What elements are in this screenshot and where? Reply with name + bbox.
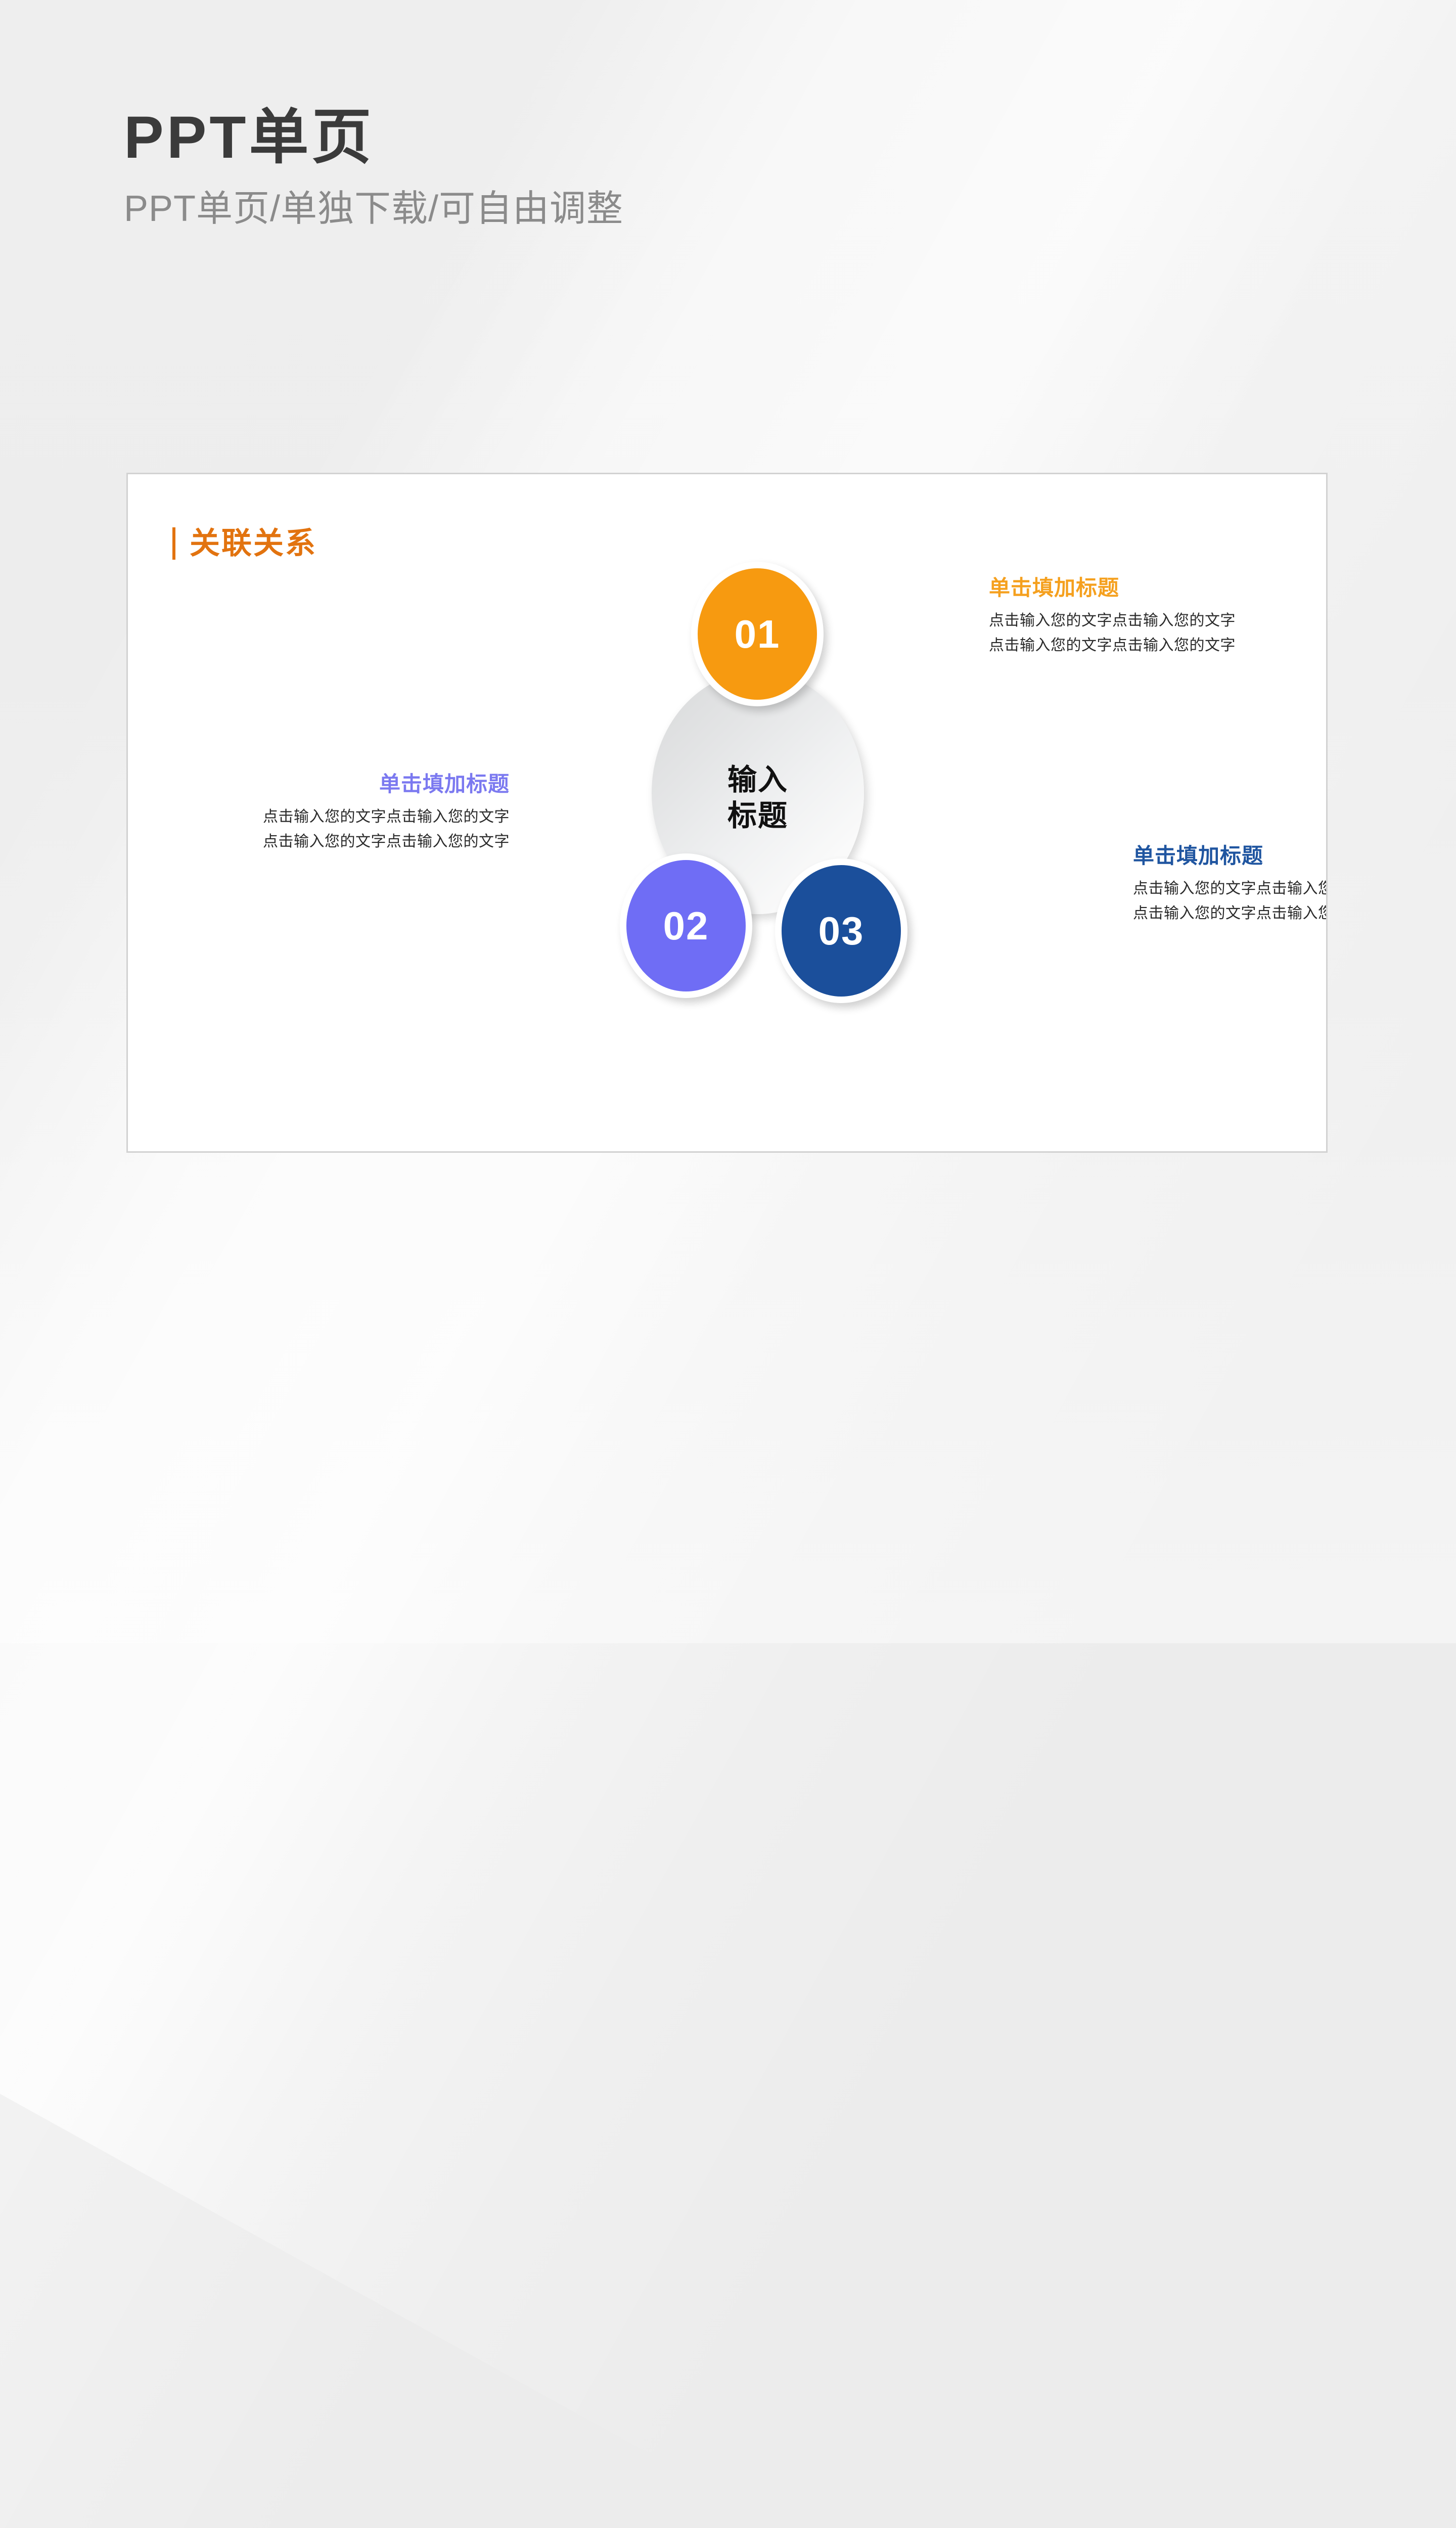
- slide-card[interactable]: 关联关系 输入 标题 01 02 03 单击填加标题 点击输入您的文字点击输入您…: [126, 473, 1328, 1153]
- node-info-03-line-2: 点击输入您的文字点击输入您的文字: [1133, 901, 1328, 926]
- node-info-01-line-2: 点击输入您的文字点击输入您的文字: [989, 634, 1236, 658]
- center-hub-label-line2: 标题: [652, 798, 864, 834]
- page-header: PPT单页 PPT单页/单独下载/可自由调整: [124, 104, 1135, 233]
- node-info-01: 单击填加标题 点击输入您的文字点击输入您的文字 点击输入您的文字点击输入您的文字: [989, 575, 1236, 658]
- page-title: PPT单页: [124, 104, 1135, 172]
- page-subtitle: PPT单页/单独下载/可自由调整: [124, 186, 1135, 233]
- center-hub-label-line1: 输入: [652, 762, 864, 798]
- node-info-03-title: 单击填加标题: [1133, 843, 1328, 869]
- relationship-diagram: 输入 标题 01 02 03 单击填加标题 点击输入您的文字点击输入您的文字 点…: [128, 474, 1328, 1153]
- node-info-02-line-2: 点击输入您的文字点击输入您的文字: [262, 830, 510, 854]
- node-bubble-01[interactable]: 01: [691, 562, 824, 706]
- node-bubble-02[interactable]: 02: [620, 853, 752, 998]
- node-info-01-title: 单击填加标题: [989, 575, 1236, 601]
- node-info-02: 单击填加标题 点击输入您的文字点击输入您的文字 点击输入您的文字点击输入您的文字: [262, 772, 510, 854]
- node-info-03-line-1: 点击输入您的文字点击输入您的文字: [1133, 877, 1328, 901]
- node-info-01-line-1: 点击输入您的文字点击输入您的文字: [989, 609, 1236, 634]
- node-bubble-03[interactable]: 03: [775, 859, 907, 1003]
- node-info-03: 单击填加标题 点击输入您的文字点击输入您的文字 点击输入您的文字点击输入您的文字: [1133, 843, 1328, 926]
- node-info-02-title: 单击填加标题: [262, 772, 510, 797]
- node-info-02-line-1: 点击输入您的文字点击输入您的文字: [262, 805, 510, 830]
- center-hub-label: 输入 标题: [652, 762, 864, 834]
